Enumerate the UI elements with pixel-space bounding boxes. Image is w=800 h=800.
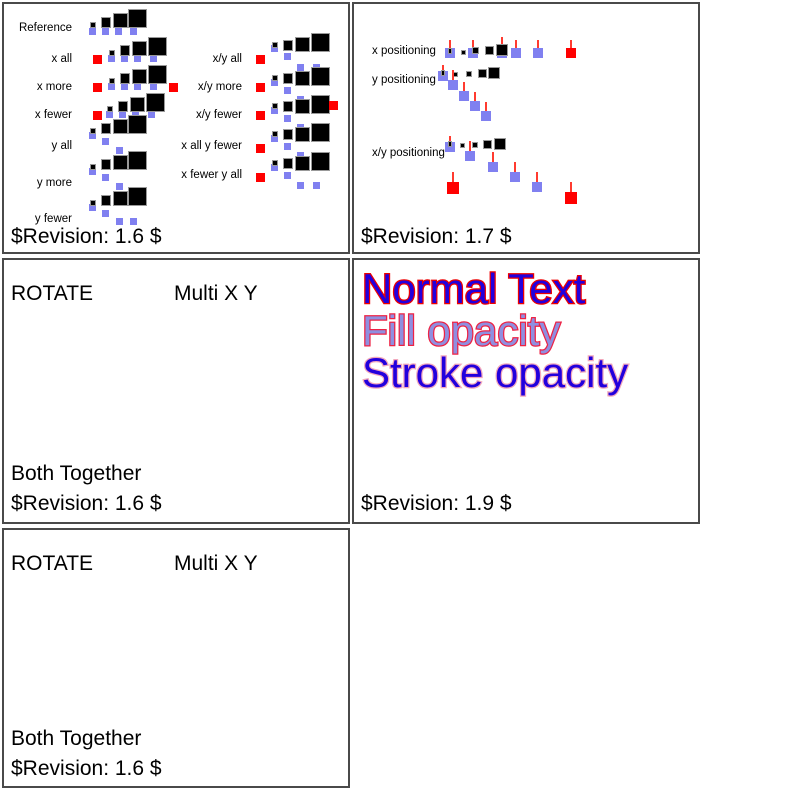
test-suite-canvas: Reference x all x more x fewer y all y m… (0, 0, 800, 800)
row-label-y-fewer: y fewer (35, 214, 72, 226)
panel-rotate-a: ROTATE Multi X Y Both Together $Revision… (2, 258, 350, 524)
revision-label-opacity: $Revision: 1.9 $ (361, 493, 512, 514)
row-label-x-all: x all (52, 54, 72, 66)
rotate-a-heading-right: Multi X Y (174, 283, 258, 304)
row-label-xy-more: x/y more (198, 82, 242, 94)
row-label-x-more: x more (37, 82, 72, 94)
row-label-y-all: y all (52, 141, 72, 153)
row-label-xy-fewer: x/y fewer (196, 110, 242, 122)
opacity-line-fill-opacity: Fill opacity (362, 310, 560, 352)
revision-label-rotate-b: $Revision: 1.6 $ (11, 758, 162, 779)
rotate-b-heading-left: ROTATE (11, 553, 93, 574)
opacity-line-stroke-opacity: Stroke opacity (362, 352, 628, 394)
revision-label-text-align: $Revision: 1.6 $ (11, 226, 162, 247)
panel-text-align: Reference x all x more x fewer y all y m… (2, 2, 350, 254)
row-label-xy-all: x/y all (213, 54, 242, 66)
opacity-line-normal-text: Normal Text (362, 268, 585, 310)
row-label-reference: Reference (19, 23, 72, 35)
row-label-x-fewer-y-all: x fewer y all (181, 170, 242, 182)
rotate-a-footer: Both Together (11, 463, 141, 484)
panel-text-position: x positioning y positioning x/y position… (352, 2, 700, 254)
panel-rotate-b: ROTATE Multi X Y Both Together $Revision… (2, 528, 350, 788)
rotate-a-heading-left: ROTATE (11, 283, 93, 304)
row-label-x-positioning: x positioning (372, 46, 436, 58)
rotate-b-heading-right: Multi X Y (174, 553, 258, 574)
revision-label-text-position: $Revision: 1.7 $ (361, 226, 512, 247)
revision-label-rotate-a: $Revision: 1.6 $ (11, 493, 162, 514)
row-label-x-all-y-fewer: x all y fewer (181, 141, 242, 153)
row-label-x-fewer: x fewer (35, 110, 72, 122)
panel-opacity: Normal Text Fill opacity Stroke opacity … (352, 258, 700, 524)
rotate-b-footer: Both Together (11, 728, 141, 749)
row-label-y-more: y more (37, 178, 72, 190)
row-label-xy-positioning: x/y positioning (372, 148, 445, 160)
row-label-y-positioning: y positioning (372, 75, 436, 87)
